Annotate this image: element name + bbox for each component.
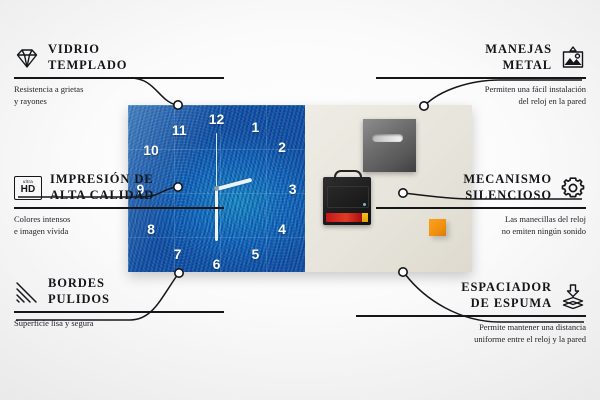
feature-description: Permiten una fácil instalación del reloj…: [376, 83, 586, 108]
feature-desc-line1: Colores intensos: [14, 214, 70, 224]
foam-spacer-icon: [560, 283, 586, 309]
feature-vidrio-templado[interactable]: VIDRIO TEMPLADO Resistencia a grietas y …: [14, 42, 224, 107]
feature-rule: [356, 315, 586, 317]
feature-desc-line2: no emiten ningún sonido: [502, 226, 586, 236]
feature-description: Permite mantener una distancia uniforme …: [356, 321, 586, 346]
feature-title: BORDES PULIDOS: [48, 276, 110, 307]
feature-desc-line2: e imagen vívida: [14, 226, 68, 236]
ultra-hd-icon: ultra HD: [14, 176, 42, 200]
feature-mecanismo-silencioso[interactable]: MECANISMO SILENCIOSO Las manecillas del …: [376, 172, 586, 237]
battery: [326, 213, 362, 222]
clock-number-11: 11: [172, 123, 187, 137]
diamond-icon: [14, 45, 40, 71]
clock-number-10: 10: [143, 143, 159, 157]
feature-title-line2: PULIDOS: [48, 292, 110, 306]
feature-desc-line1: Las manecillas del reloj: [505, 214, 586, 224]
feature-title: IMPRESIÓN DE ALTA CALIDAD: [50, 172, 154, 203]
clock-number-6: 6: [213, 257, 221, 271]
feature-title: MANEJAS METAL: [485, 42, 552, 73]
feature-description: Las manecillas del reloj no emiten ningú…: [376, 213, 586, 238]
battery-label: [362, 213, 368, 222]
feature-desc-line2: y rayones: [14, 96, 47, 106]
infographic-stage: 12 1 2 3 4 5 6 7 8 9 10 11: [0, 0, 600, 400]
clock-number-12: 12: [209, 112, 225, 126]
feature-title-line1: ESPACIADOR: [461, 280, 552, 294]
feature-title-line2: ALTA CALIDAD: [50, 188, 154, 202]
hd-badge-big: HD: [21, 185, 36, 195]
gear-icon: [560, 175, 586, 201]
clock-number-5: 5: [252, 247, 260, 261]
feature-bordes-pulidos[interactable]: BORDES PULIDOS Superficie lisa y segura: [14, 276, 224, 329]
clock-number-4: 4: [278, 222, 286, 236]
movement-bail: [334, 170, 362, 181]
clock-number-7: 7: [174, 247, 182, 261]
feature-rule: [376, 77, 586, 79]
feature-description: Colores intensos e imagen vívida: [14, 213, 224, 238]
feature-title-line1: MECANISMO: [463, 172, 552, 186]
quartz-movement: [323, 177, 371, 225]
feature-title-line1: VIDRIO: [48, 42, 100, 56]
feature-title-line1: MANEJAS: [485, 42, 552, 56]
picture-hanger-icon: [560, 45, 586, 71]
metal-hanger-plate: [363, 119, 416, 172]
feature-title: ESPACIADOR DE ESPUMA: [461, 280, 552, 311]
polished-edge-icon: [14, 279, 40, 305]
feature-title-line2: SILENCIOSO: [465, 188, 552, 202]
feature-rule: [14, 77, 224, 79]
feature-description: Resistencia a grietas y rayones: [14, 83, 224, 108]
movement-indicator-dot: [363, 203, 366, 206]
feature-title: VIDRIO TEMPLADO: [48, 42, 127, 73]
feature-title-line2: TEMPLADO: [48, 58, 127, 72]
feature-rule: [376, 207, 586, 209]
feature-rule: [14, 207, 224, 209]
feature-title-line2: METAL: [503, 58, 552, 72]
feature-desc-line2: del reloj en la pared: [519, 96, 587, 106]
feature-espaciador-espuma[interactable]: ESPACIADOR DE ESPUMA Permite mantener un…: [356, 280, 586, 345]
feature-title: MECANISMO SILENCIOSO: [463, 172, 552, 203]
hanger-slot: [372, 134, 403, 142]
feature-rule: [14, 311, 224, 313]
clock-number-1: 1: [252, 120, 260, 134]
clock-number-3: 3: [289, 182, 297, 196]
feature-desc-line1: Permiten una fácil instalación: [485, 84, 586, 94]
feature-title-line1: BORDES: [48, 276, 105, 290]
feature-title-line2: DE ESPUMA: [471, 296, 552, 310]
feature-title-line1: IMPRESIÓN DE: [50, 172, 154, 186]
feature-manejas-metal[interactable]: MANEJAS METAL Permiten una fácil instala…: [376, 42, 586, 107]
feature-desc-line1: Superficie lisa y segura: [14, 318, 94, 328]
feature-impresion-alta-calidad[interactable]: ultra HD IMPRESIÓN DE ALTA CALIDAD Color…: [14, 172, 224, 237]
feature-desc-line1: Permite mantener una distancia: [479, 322, 586, 332]
clock-number-2: 2: [278, 140, 286, 154]
feature-desc-line1: Resistencia a grietas: [14, 84, 83, 94]
feature-desc-line2: uniforme entre el reloj y la pared: [474, 334, 586, 344]
feature-description: Superficie lisa y segura: [14, 317, 224, 329]
